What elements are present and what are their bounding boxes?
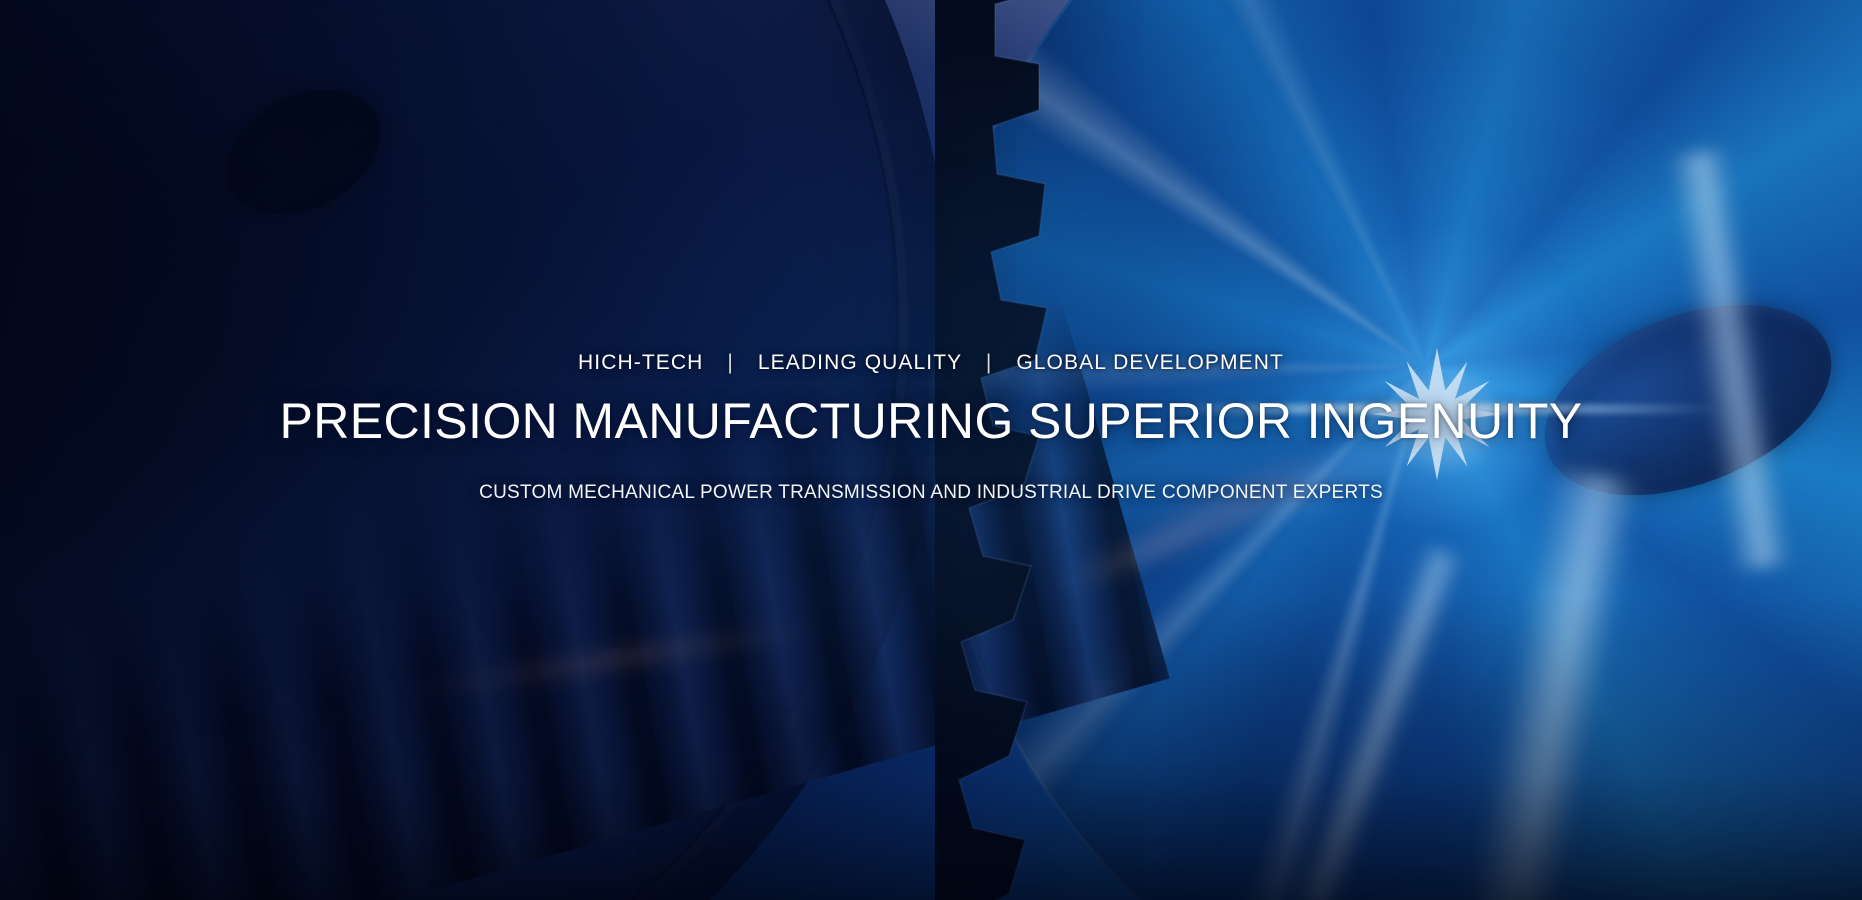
hero-headline: PRECISION MANUFACTURING SUPERIOR INGENUI… bbox=[0, 395, 1862, 448]
eyebrow-item-1: LEADING QUALITY bbox=[758, 351, 962, 374]
hero-copy-block: HICH-TECH | LEADING QUALITY | GLOBAL DEV… bbox=[0, 352, 1862, 504]
eyebrow-item-2: GLOBAL DEVELOPMENT bbox=[1016, 351, 1284, 374]
hero-subline: CUSTOM MECHANICAL POWER TRANSMISSION AND… bbox=[0, 482, 1862, 504]
eyebrow-separator-0: | bbox=[710, 352, 751, 373]
eyebrow-separator-1: | bbox=[969, 352, 1010, 373]
hero-banner: HICH-TECH | LEADING QUALITY | GLOBAL DEV… bbox=[0, 0, 1862, 900]
hero-eyebrow: HICH-TECH | LEADING QUALITY | GLOBAL DEV… bbox=[0, 352, 1862, 373]
eyebrow-item-0: HICH-TECH bbox=[578, 351, 703, 374]
